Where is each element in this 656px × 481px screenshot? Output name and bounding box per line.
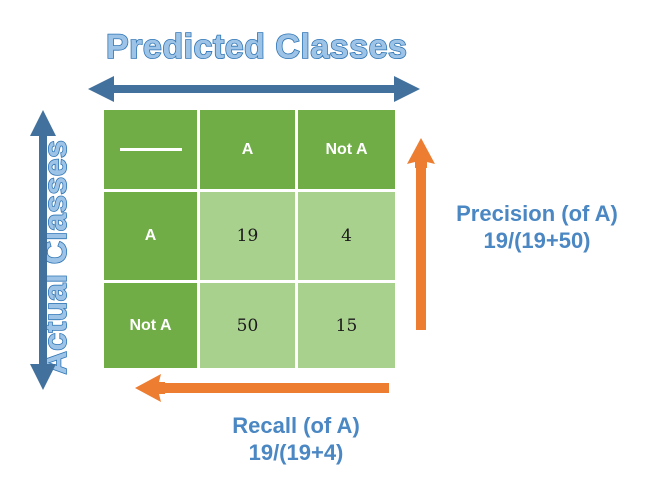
row-header-a: A (104, 192, 197, 280)
column-header-a: A (200, 110, 295, 189)
recall-formula: 19/(19+4) (196, 439, 396, 466)
confusion-matrix-diagram: Predicted Classes Actual Classes A Not A… (0, 0, 656, 481)
matrix-corner-cell (104, 110, 197, 189)
precision-formula: 19/(19+50) (437, 227, 637, 254)
confusion-matrix-table: A Not A A 19 4 Not A 50 15 (104, 110, 389, 362)
actual-classes-arrow (28, 110, 58, 390)
cell-true-positive: 19 (200, 192, 295, 280)
precision-label: Precision (of A) 19/(19+50) (437, 200, 637, 254)
corner-dash-icon (120, 148, 182, 151)
recall-name: Recall (of A) (196, 412, 396, 439)
row-header-not-a: Not A (104, 283, 197, 368)
precision-arrow (404, 138, 438, 330)
column-header-not-a: Not A (298, 110, 395, 189)
predicted-classes-arrow (88, 74, 420, 104)
cell-false-positive: 50 (200, 283, 295, 368)
precision-name: Precision (of A) (437, 200, 637, 227)
cell-true-negative: 15 (298, 283, 395, 368)
cell-false-negative: 4 (298, 192, 395, 280)
predicted-classes-title: Predicted Classes (106, 27, 407, 67)
recall-arrow (135, 372, 389, 404)
recall-label: Recall (of A) 19/(19+4) (196, 412, 396, 466)
